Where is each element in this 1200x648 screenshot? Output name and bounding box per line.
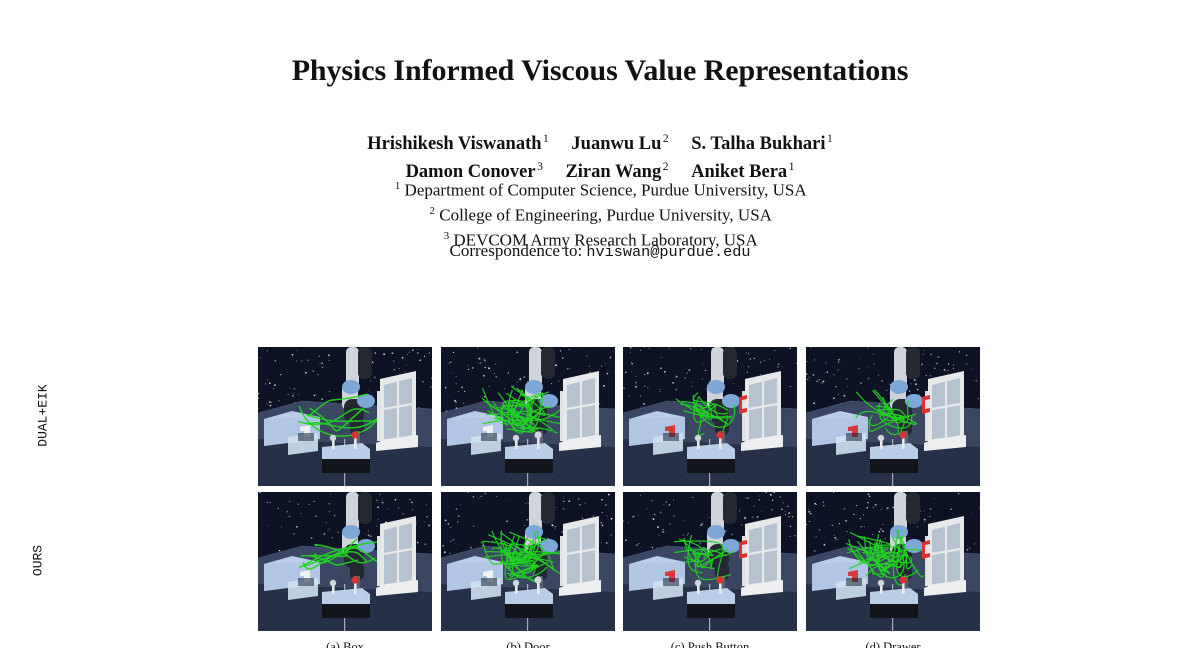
figure-caption-0: (a) Box — [258, 640, 432, 648]
panel-render — [441, 492, 615, 631]
panel-render — [258, 492, 432, 631]
panel-render — [806, 492, 980, 631]
figure-panel-r1-c2 — [623, 492, 797, 631]
figure-panel-r1-c3 — [806, 492, 980, 631]
panel-render — [258, 347, 432, 486]
figure-panel-r0-c3 — [806, 347, 980, 486]
row-label-ours: OURS — [31, 511, 46, 611]
panel-render — [623, 347, 797, 486]
row-label-dual-eik: DUAL+EIK — [36, 366, 51, 466]
figure-panel-r0-c2 — [623, 347, 797, 486]
panel-render — [806, 347, 980, 486]
figure-panel-r0-c1 — [441, 347, 615, 486]
figure-grid: DUAL+EIK OURS (a) Box(b) Door(c) Push Bu… — [0, 0, 1200, 648]
panel-render — [623, 492, 797, 631]
figure-caption-2: (c) Push Button — [623, 640, 797, 648]
panel-render — [441, 347, 615, 486]
figure-panel-r0-c0 — [258, 347, 432, 486]
figure-panel-r1-c0 — [258, 492, 432, 631]
figure-caption-1: (b) Door — [441, 640, 615, 648]
figure-panel-r1-c1 — [441, 492, 615, 631]
figure-caption-3: (d) Drawer — [806, 640, 980, 648]
